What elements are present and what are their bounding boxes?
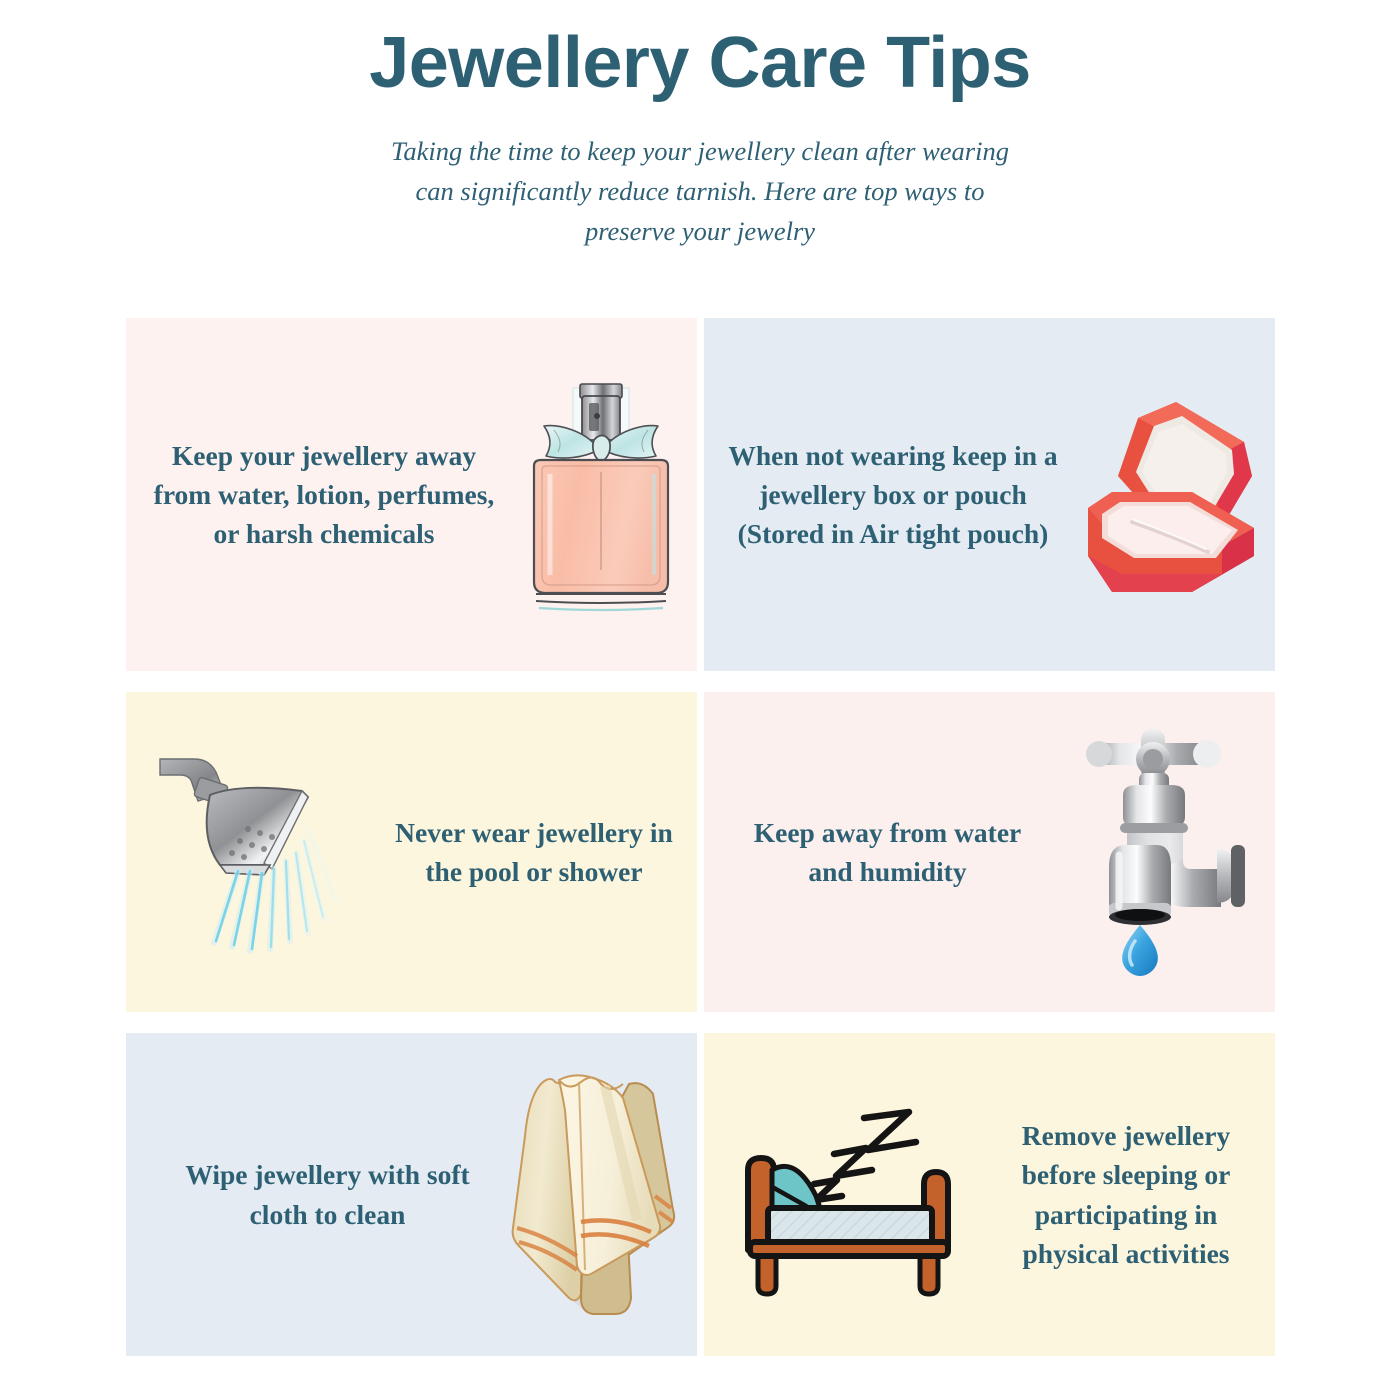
- ring-box-icon: [1072, 380, 1272, 610]
- page-subtitle: Taking the time to keep your jewellery c…: [380, 131, 1020, 252]
- tip-card-shower-label: Never wear jewellery in the pool or show…: [384, 813, 684, 892]
- bed-sleep-icon: [734, 1090, 974, 1300]
- tip-card-sleep-label: Remove jewellery before sleeping or part…: [996, 1116, 1256, 1273]
- tip-card-humidity: Keep away from water and humidity: [704, 692, 1275, 1012]
- tips-grid: Keep your jewellery away from water, lot…: [126, 318, 1275, 1356]
- tip-card-shower: Never wear jewellery in the pool or show…: [126, 692, 697, 1012]
- cloth-towel-icon: [507, 1070, 697, 1320]
- page-title: Jewellery Care Tips: [0, 22, 1400, 105]
- infographic-page: Jewellery Care Tips Taking the time to k…: [0, 0, 1400, 1400]
- shower-head-icon: [152, 737, 372, 967]
- perfume-bottle-icon: [506, 370, 696, 620]
- tip-card-wipe-label: Wipe jewellery with soft cloth to clean: [184, 1155, 471, 1234]
- faucet-drip-icon: [1065, 727, 1275, 977]
- header: Jewellery Care Tips Taking the time to k…: [0, 0, 1400, 252]
- tip-card-storage: When not wearing keep in a jewellery box…: [704, 318, 1275, 671]
- tip-card-perfume-label: Keep your jewellery away from water, lot…: [144, 436, 504, 554]
- tip-card-storage-label: When not wearing keep in a jewellery box…: [724, 436, 1062, 554]
- tip-card-wipe: Wipe jewellery with soft cloth to clean: [126, 1033, 697, 1356]
- tip-card-perfume: Keep your jewellery away from water, lot…: [126, 318, 697, 671]
- tip-card-sleep: Remove jewellery before sleeping or part…: [704, 1033, 1275, 1356]
- tip-card-humidity-label: Keep away from water and humidity: [750, 813, 1025, 892]
